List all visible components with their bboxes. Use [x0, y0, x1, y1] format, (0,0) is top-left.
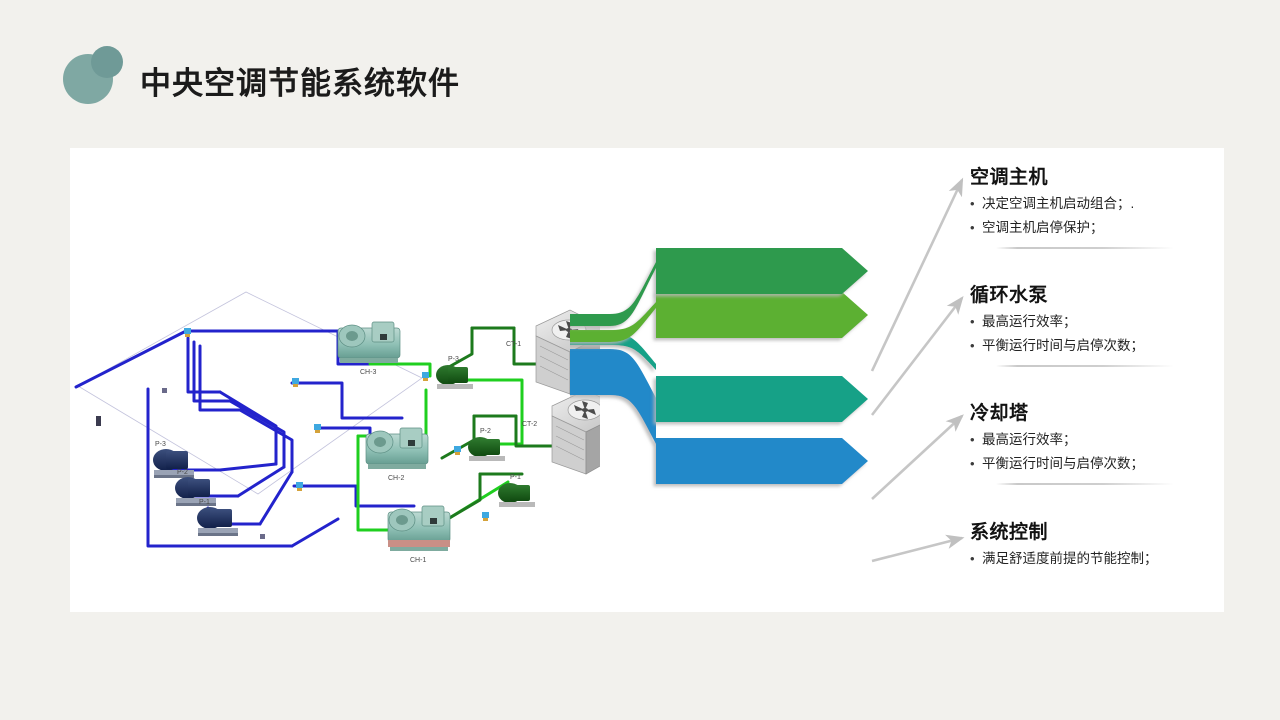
feature-bullet: • 最高运行效率； [970, 431, 1220, 449]
feature-group-title: 循环水泵 [970, 280, 1220, 307]
fanout-ribbon-diagram [570, 248, 920, 538]
svg-text:CT-2: CT-2 [522, 421, 537, 428]
svg-text:CH-3: CH-3 [360, 369, 376, 376]
feature-bullet-text: 满足舒适度前提的节能控制； [982, 550, 1158, 568]
bullet-dot-icon: • [970, 219, 982, 237]
slide-header: 中央空调节能系统软件 [0, 0, 1280, 140]
hvac-schematic-illustration: CH-3 CH-2 [70, 268, 600, 598]
feature-group-title: 空调主机 [970, 162, 1220, 189]
bullet-dot-icon: • [970, 431, 982, 449]
svg-text:P-1: P-1 [199, 499, 210, 506]
svg-text:P-3: P-3 [448, 356, 459, 363]
content-card: CH-3 CH-2 [70, 148, 1224, 612]
bullet-dot-icon: • [970, 313, 982, 331]
bullet-dot-icon: • [970, 550, 982, 568]
feature-group-system-control: 系统控制 • 满足舒适度前提的节能控制； [970, 517, 1220, 568]
svg-text:P-2: P-2 [480, 428, 491, 435]
logo-circle-small-icon [91, 46, 123, 78]
feature-bullet: • 最高运行效率； [970, 313, 1220, 331]
svg-text:P-3: P-3 [155, 441, 166, 448]
feature-bullet-text: 决定空调主机启动组合；. [982, 195, 1134, 213]
feature-bullet-text: 最高运行效率； [982, 431, 1077, 449]
page-title: 中央空调节能系统软件 [140, 58, 460, 103]
group-divider [996, 247, 1174, 249]
floor-marker-icon [96, 416, 101, 426]
chilled-water-pump: P-3 P-2 P-1 [153, 441, 238, 536]
feature-bullet: • 平衡运行时间与启停次数； [970, 337, 1220, 355]
feature-bullet-text: 平衡运行时间与启停次数； [982, 337, 1144, 355]
logo-icon [63, 46, 125, 104]
svg-text:CH-2: CH-2 [388, 475, 404, 482]
svg-text:CT-1: CT-1 [506, 341, 521, 348]
feature-group-title: 冷却塔 [970, 398, 1220, 425]
feature-bullet-text: 空调主机启停保护； [982, 219, 1104, 237]
group-divider [996, 483, 1174, 485]
svg-text:P-2: P-2 [177, 469, 188, 476]
feature-group-chiller: 空调主机 • 决定空调主机启动组合；. • 空调主机启停保护； [970, 162, 1220, 249]
chiller-unit: CH-3 CH-2 [338, 322, 450, 564]
slide-canvas: 中央空调节能系统软件 [0, 0, 1280, 720]
connector-arrow-4 [872, 538, 962, 561]
svg-text:CH-1: CH-1 [410, 557, 426, 564]
bullet-dot-icon: • [970, 337, 982, 355]
feature-bullet: • 平衡运行时间与启停次数； [970, 455, 1220, 473]
feature-group-pump: 循环水泵 • 最高运行效率； • 平衡运行时间与启停次数； [970, 280, 1220, 367]
feature-bullet-text: 最高运行效率； [982, 313, 1077, 331]
svg-text:P-1: P-1 [510, 474, 521, 481]
feature-bullet-text: 平衡运行时间与启停次数； [982, 455, 1144, 473]
feature-bullet: • 空调主机启停保护； [970, 219, 1220, 237]
feature-bullet: • 决定空调主机启动组合；. [970, 195, 1220, 213]
feature-bullet: • 满足舒适度前提的节能控制； [970, 550, 1220, 568]
feature-group-title: 系统控制 [970, 517, 1220, 544]
feature-group-cooling-tower: 冷却塔 • 最高运行效率； • 平衡运行时间与启停次数； [970, 398, 1220, 485]
bullet-dot-icon: • [970, 455, 982, 473]
bullet-dot-icon: • [970, 195, 982, 213]
group-divider [996, 365, 1174, 367]
